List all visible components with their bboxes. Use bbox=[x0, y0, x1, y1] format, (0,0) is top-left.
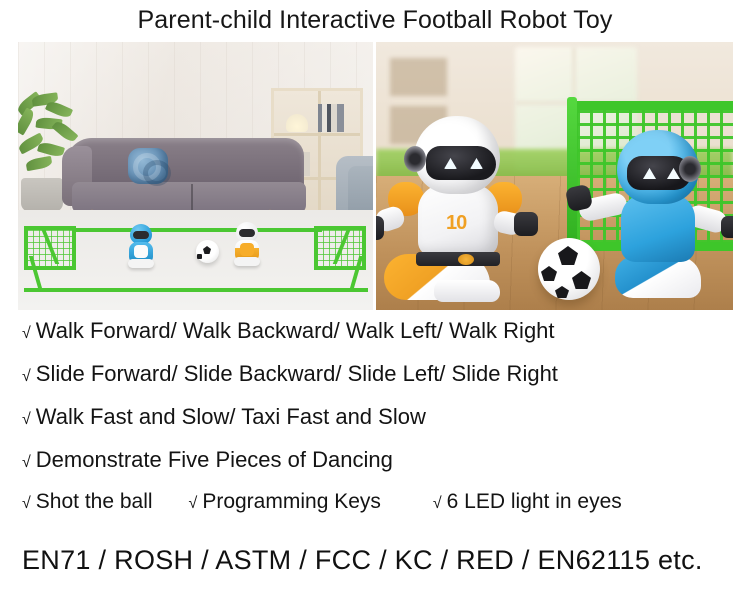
feature-label: Demonstrate Five Pieces of Dancing bbox=[36, 447, 393, 473]
robot-closeup-goal-photo: 10 bbox=[376, 42, 733, 310]
robot-blue-large bbox=[593, 130, 721, 300]
plant-pot bbox=[21, 178, 63, 212]
robot-foot bbox=[434, 280, 500, 302]
robot-torso bbox=[621, 194, 695, 262]
goal-left bbox=[24, 226, 76, 270]
goal-right bbox=[314, 226, 366, 270]
books bbox=[318, 104, 344, 132]
robot-hand bbox=[721, 216, 733, 238]
check-icon: √ bbox=[22, 325, 31, 343]
feature-label: 6 LED light in eyes bbox=[447, 490, 622, 514]
play-mat bbox=[18, 210, 373, 310]
football-large bbox=[538, 238, 600, 300]
check-icon: √ bbox=[22, 454, 31, 472]
robot-ear bbox=[679, 156, 701, 182]
check-icon: √ bbox=[22, 368, 31, 386]
football-small bbox=[196, 240, 219, 263]
feature-row: √ Slide Forward/ Slide Backward/ Slide L… bbox=[22, 361, 732, 404]
certification-line: EN71 / ROSH / ASTM / FCC / KC / RED / EN… bbox=[22, 545, 703, 576]
feature-label: Walk Fast and Slow/ Taxi Fast and Slow bbox=[36, 404, 426, 430]
robot-leg bbox=[615, 256, 701, 298]
robot-orange-small bbox=[234, 222, 260, 266]
robot-orange-large: 10 bbox=[382, 116, 540, 301]
feature-row: √ Demonstrate Five Pieces of Dancing bbox=[22, 447, 732, 490]
feature-label: Slide Forward/ Slide Backward/ Slide Lef… bbox=[36, 361, 558, 387]
feature-row: √ Walk Forward/ Walk Backward/ Walk Left… bbox=[22, 318, 732, 361]
feature-list: √ Walk Forward/ Walk Backward/ Walk Left… bbox=[22, 318, 732, 533]
robot-buckle bbox=[458, 254, 474, 265]
feature-label: Walk Forward/ Walk Backward/ Walk Left/ … bbox=[36, 318, 555, 344]
sofa-seam bbox=[191, 184, 193, 212]
feature-label: Programming Keys bbox=[202, 490, 381, 514]
page-title: Parent-child Interactive Football Robot … bbox=[0, 4, 750, 36]
robot-visor bbox=[426, 146, 496, 180]
feature-item-led-eyes: √ 6 LED light in eyes bbox=[433, 490, 622, 514]
check-icon: √ bbox=[433, 495, 442, 513]
robot-blue-small bbox=[128, 224, 154, 268]
product-photo-strip: 10 bbox=[18, 42, 733, 310]
check-icon: √ bbox=[22, 495, 31, 513]
robot-hand bbox=[514, 212, 538, 236]
robot-hand bbox=[376, 216, 384, 240]
robot-ear bbox=[404, 146, 426, 172]
feature-label: Shot the ball bbox=[36, 490, 153, 514]
wall-picture bbox=[390, 58, 447, 96]
feature-row: √ Walk Fast and Slow/ Taxi Fast and Slow bbox=[22, 404, 732, 447]
living-room-play-mat-photo bbox=[18, 42, 373, 310]
jersey-number: 10 bbox=[446, 212, 466, 235]
table-lamp-icon bbox=[286, 114, 308, 132]
check-icon: √ bbox=[22, 411, 31, 429]
knot-cushion bbox=[128, 148, 168, 184]
feature-item-shot-the-ball: √ Shot the ball bbox=[22, 490, 153, 514]
feature-row-triple: √ Shot the ball √ Programming Keys √ 6 L… bbox=[22, 490, 732, 533]
check-icon: √ bbox=[189, 495, 198, 513]
feature-item-programming-keys: √ Programming Keys bbox=[189, 490, 381, 514]
